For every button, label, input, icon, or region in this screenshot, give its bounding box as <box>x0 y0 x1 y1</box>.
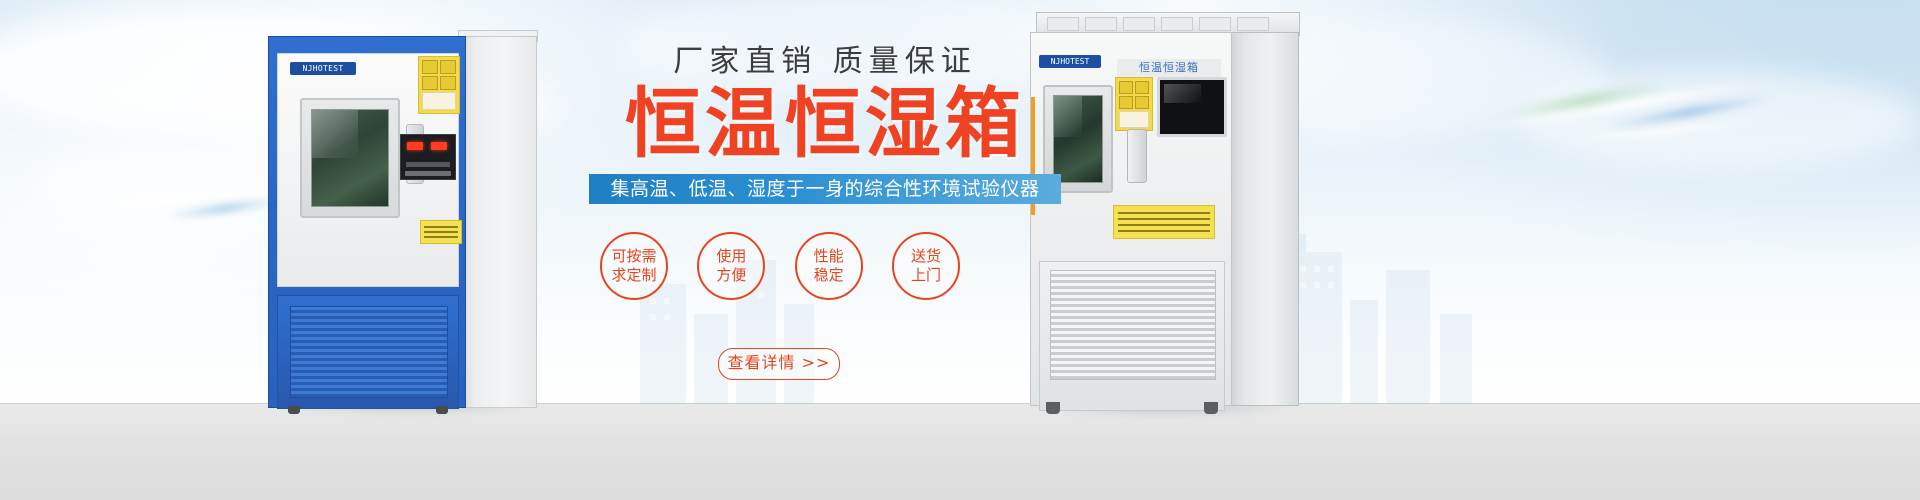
left-humidity-digit-readout <box>431 142 447 150</box>
right-chamber-side-panel <box>1226 32 1299 406</box>
left-door-window-frame <box>300 98 400 218</box>
badge-line-2: 求定制 <box>611 266 656 285</box>
right-product-name-label: 恒温恒湿箱 <box>1117 59 1221 77</box>
badge-line-1: 使用 <box>716 247 746 266</box>
feature-badge-custom[interactable]: 可按需 求定制 <box>600 232 668 300</box>
left-temp-digit-readout <box>407 142 423 150</box>
right-chamber-lower-section <box>1039 261 1225 411</box>
left-warning-sticker <box>418 56 460 114</box>
left-chamber-feet <box>288 406 448 414</box>
badge-line-2: 上门 <box>911 266 941 285</box>
right-warning-sticker <box>1115 77 1153 131</box>
left-chamber-front-face: NJHOTEST <box>277 53 459 287</box>
badge-line-2: 方便 <box>716 266 746 285</box>
feature-badge-easy-use[interactable]: 使用 方便 <box>697 232 765 300</box>
feature-badge-group: 可按需 求定制 使用 方便 性能 稳定 送货 上门 <box>600 232 960 300</box>
right-chamber-vent-grille <box>1050 270 1216 380</box>
right-spec-label <box>1113 205 1215 239</box>
left-caution-tag <box>420 220 462 244</box>
right-touchscreen-display[interactable] <box>1157 77 1227 137</box>
left-controller-label-strip <box>405 171 451 176</box>
feature-badge-delivery[interactable]: 送货 上门 <box>892 232 960 300</box>
left-chamber-body: NJHOTEST <box>268 36 466 408</box>
banner-copy: 厂家直销 质量保证 恒温恒湿箱 集高温、低温、湿度于一身的综合性环境试验仪器 <box>565 44 1085 204</box>
left-brand-logo: NJHOTEST <box>290 62 356 75</box>
left-chamber-vent-grille <box>290 306 448 398</box>
feature-badge-stable[interactable]: 性能 稳定 <box>795 232 863 300</box>
badge-line-1: 可按需 <box>611 247 656 266</box>
left-chamber-side-panel <box>458 36 537 408</box>
right-chamber-feet <box>1046 402 1218 414</box>
promo-banner: NJHOTEST <box>0 0 1920 500</box>
badge-line-1: 送货 <box>911 247 941 266</box>
right-door-handle <box>1127 129 1147 183</box>
left-controller-button-row <box>406 162 450 167</box>
left-controller-panel <box>400 134 456 180</box>
banner-subtitle: 集高温、低温、湿度于一身的综合性环境试验仪器 <box>589 174 1061 204</box>
banner-eyebrow: 厂家直销 质量保证 <box>565 44 1085 80</box>
badge-line-2: 稳定 <box>814 266 844 285</box>
product-image-left: NJHOTEST <box>268 28 536 406</box>
left-door-window-glass <box>311 109 389 207</box>
view-details-button[interactable]: 查看详情 >> <box>718 348 840 380</box>
banner-headline: 恒温恒湿箱 <box>565 86 1085 162</box>
ground-strip <box>0 404 1920 500</box>
left-chamber-lower-section <box>277 295 459 409</box>
badge-line-1: 性能 <box>814 247 844 266</box>
